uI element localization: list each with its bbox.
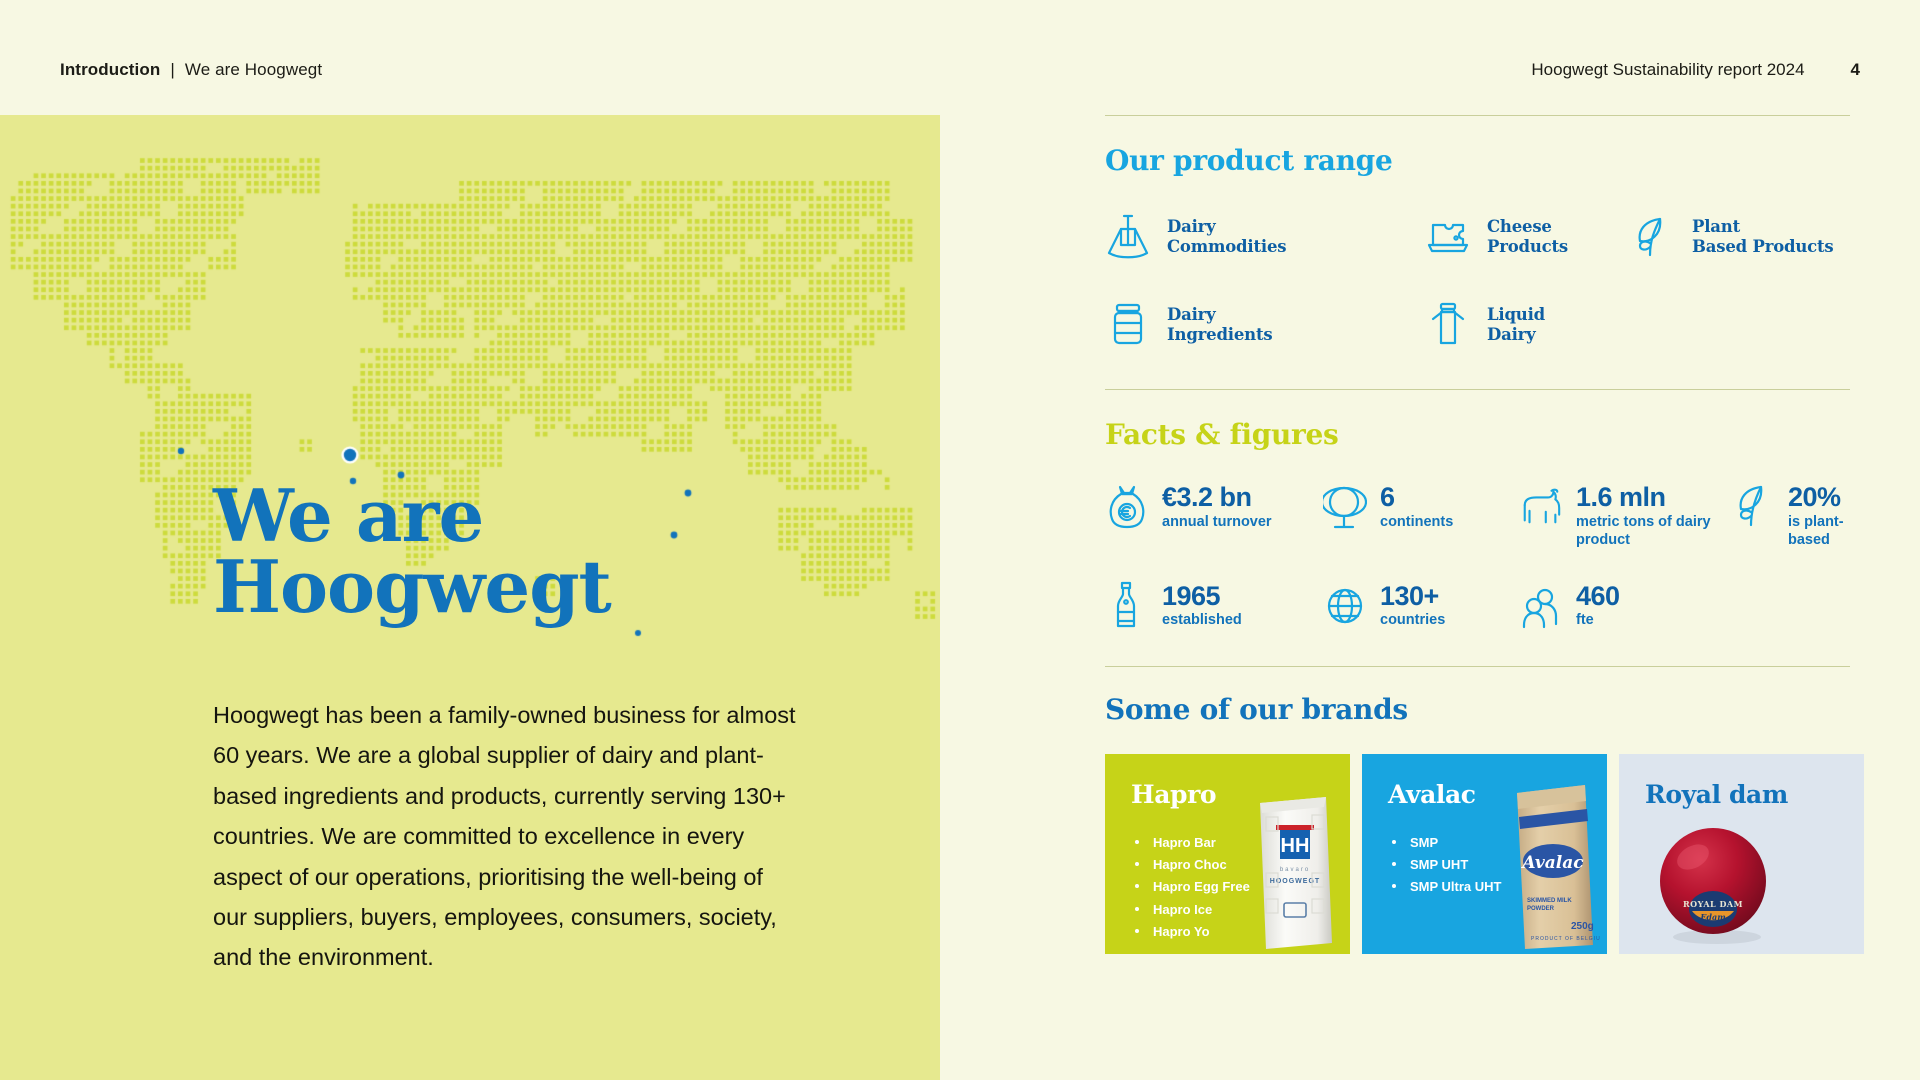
brand-product-list: Hapro Bar Hapro Choc Hapro Egg Free Hapr… [1135, 832, 1250, 944]
milk-bottle-icon [1105, 580, 1149, 632]
fact-plant-based: 20% is plant-based [1731, 481, 1865, 550]
dairy-commodities-icon [1105, 211, 1151, 263]
fact-dairy-tons: 1.6 mln metric tons of dairy product [1519, 481, 1731, 550]
people-icon [1519, 580, 1563, 632]
liquid-dairy-churn-icon [1425, 299, 1471, 351]
facts-section: Facts & figures €3.2 bn annual turnover [1105, 390, 1865, 632]
plant-leaf-icon [1731, 481, 1775, 533]
product-range-grid: Dairy Commodities Cheese Products [1105, 211, 1865, 351]
facts-title: Facts & figures [1105, 418, 1865, 451]
fact-established: 1965 established [1105, 580, 1323, 632]
fact-continents: 6 continents [1323, 481, 1519, 550]
fact-label: metric tons of dairy product [1576, 513, 1731, 550]
fact-label: continents [1380, 513, 1453, 532]
fact-countries: 130+ countries [1323, 580, 1519, 632]
money-bag-euro-icon [1105, 481, 1149, 533]
fact-value: 20% [1788, 483, 1865, 512]
plant-leaf-icon [1630, 211, 1676, 263]
svg-text:PRODUCT OF BELGIUM: PRODUCT OF BELGIUM [1531, 936, 1601, 942]
svg-text:ROYAL DAM: ROYAL DAM [1683, 899, 1743, 909]
avalac-milk-powder-bag-photo: Avalac SKIMMED MILK POWDER 250g PRODUCT … [1501, 777, 1601, 952]
product-label-line1: Dairy [1167, 305, 1272, 325]
svg-text:250g: 250g [1571, 921, 1594, 932]
product-label-line2: Based Products [1692, 237, 1834, 257]
fact-fte: 460 fte [1519, 580, 1731, 632]
list-item: Hapro Ice [1135, 899, 1250, 921]
brand-card-title: Royal dam [1645, 780, 1788, 809]
product-label-line1: Liquid [1487, 305, 1545, 325]
brand-card-hapro[interactable]: Hapro Hapro Bar Hapro Choc Hapro Egg Fre… [1105, 754, 1350, 954]
fact-label: fte [1576, 611, 1620, 630]
product-item-liquid-dairy[interactable]: Liquid Dairy [1425, 299, 1630, 351]
breadcrumb: Introduction|We are Hoogwegt [60, 60, 322, 80]
product-label-line2: Commodities [1167, 237, 1286, 257]
brand-card-title: Avalac [1388, 780, 1476, 809]
product-item-label: Liquid Dairy [1487, 305, 1545, 345]
breadcrumb-section[interactable]: Introduction [60, 60, 160, 79]
right-column: Our product range Dairy Commodities [1105, 115, 1865, 954]
page-number: 4 [1851, 60, 1860, 80]
product-item-dairy-commodities[interactable]: Dairy Commodities [1105, 211, 1425, 263]
product-label-line1: Plant [1692, 217, 1834, 237]
fact-value: €3.2 bn [1162, 483, 1272, 512]
svg-text:Avalac: Avalac [1520, 853, 1584, 873]
list-item: SMP UHT [1392, 854, 1502, 876]
svg-text:Edam: Edam [1699, 912, 1725, 922]
cow-icon [1519, 481, 1563, 533]
dairy-ingredients-jar-icon [1105, 299, 1151, 351]
svg-text:POWDER: POWDER [1527, 906, 1555, 912]
list-item: Hapro Choc [1135, 854, 1250, 876]
fact-value: 1965 [1162, 582, 1242, 611]
brand-card-list: Hapro Hapro Bar Hapro Choc Hapro Egg Fre… [1105, 754, 1865, 954]
list-item: Hapro Yo [1135, 921, 1250, 943]
svg-text:HOOGWEGT: HOOGWEGT [1270, 878, 1320, 885]
globe-stand-icon [1323, 481, 1367, 533]
page-title: We are Hoogwegt [213, 480, 611, 623]
product-label-line1: Dairy [1167, 217, 1286, 237]
hero-left-panel: We are Hoogwegt Hoogwegt has been a fami… [0, 115, 940, 1080]
product-item-plant-based-products[interactable]: Plant Based Products [1630, 211, 1860, 263]
product-item-dairy-ingredients[interactable]: Dairy Ingredients [1105, 299, 1425, 351]
list-item: Hapro Egg Free [1135, 876, 1250, 898]
breadcrumb-separator: | [170, 60, 175, 79]
cheese-products-icon [1425, 211, 1471, 263]
svg-text:HH: HH [1281, 835, 1310, 857]
list-item: SMP Ultra UHT [1392, 876, 1502, 898]
fact-label: countries [1380, 611, 1445, 630]
fact-value: 130+ [1380, 582, 1445, 611]
product-label-line2: Dairy [1487, 325, 1545, 345]
brand-card-royal-dam[interactable]: Royal dam ROYAL DAM Edam [1619, 754, 1864, 954]
intro-paragraph: Hoogwegt has been a family-owned busines… [213, 695, 798, 978]
brand-product-list: SMP SMP UHT SMP Ultra UHT [1392, 832, 1502, 899]
product-item-label: Dairy Ingredients [1167, 305, 1272, 345]
brands-title: Some of our brands [1105, 693, 1865, 726]
fact-label: established [1162, 611, 1242, 630]
brand-card-title: Hapro [1131, 780, 1216, 809]
svg-text:SKIMMED MILK: SKIMMED MILK [1527, 898, 1572, 904]
product-item-label: Plant Based Products [1692, 217, 1834, 257]
product-label-line2: Ingredients [1167, 325, 1272, 345]
fact-label: is plant-based [1788, 513, 1865, 550]
page-title-line1: We are [213, 480, 611, 551]
fact-annual-turnover: €3.2 bn annual turnover [1105, 481, 1323, 550]
globe-grid-icon [1323, 580, 1367, 632]
product-item-label: Cheese Products [1487, 217, 1568, 257]
page-header: Introduction|We are Hoogwegt Hoogwegt Su… [0, 0, 1920, 115]
brand-card-avalac[interactable]: Avalac SMP SMP UHT SMP Ultra UHT [1362, 754, 1607, 954]
facts-grid: €3.2 bn annual turnover 6 continents [1105, 481, 1865, 632]
page-title-line2: Hoogwegt [213, 551, 611, 622]
brands-section: Some of our brands Hapro Hapro Bar Hapro… [1105, 667, 1865, 954]
list-item: Hapro Bar [1135, 832, 1250, 854]
report-title: Hoogwegt Sustainability report 2024 [1531, 60, 1804, 80]
fact-value: 460 [1576, 582, 1620, 611]
breadcrumb-page: We are Hoogwegt [185, 60, 322, 79]
product-item-cheese-products[interactable]: Cheese Products [1425, 211, 1630, 263]
product-label-line2: Products [1487, 237, 1568, 257]
svg-text:bavaro: bavaro [1280, 867, 1310, 873]
product-item-label: Dairy Commodities [1167, 217, 1286, 257]
royal-dam-edam-cheese-photo: ROYAL DAM Edam [1647, 821, 1782, 946]
product-label-line1: Cheese [1487, 217, 1568, 237]
fact-value: 6 [1380, 483, 1453, 512]
product-range-section: Our product range Dairy Commodities [1105, 116, 1865, 351]
product-range-title: Our product range [1105, 144, 1865, 177]
list-item: SMP [1392, 832, 1502, 854]
fact-value: 1.6 mln [1576, 483, 1731, 512]
fact-label: annual turnover [1162, 513, 1272, 532]
hapro-powder-bag-photo: HH bavaro HOOGWEGT [1246, 787, 1342, 952]
header-right: Hoogwegt Sustainability report 2024 4 [1531, 60, 1860, 80]
